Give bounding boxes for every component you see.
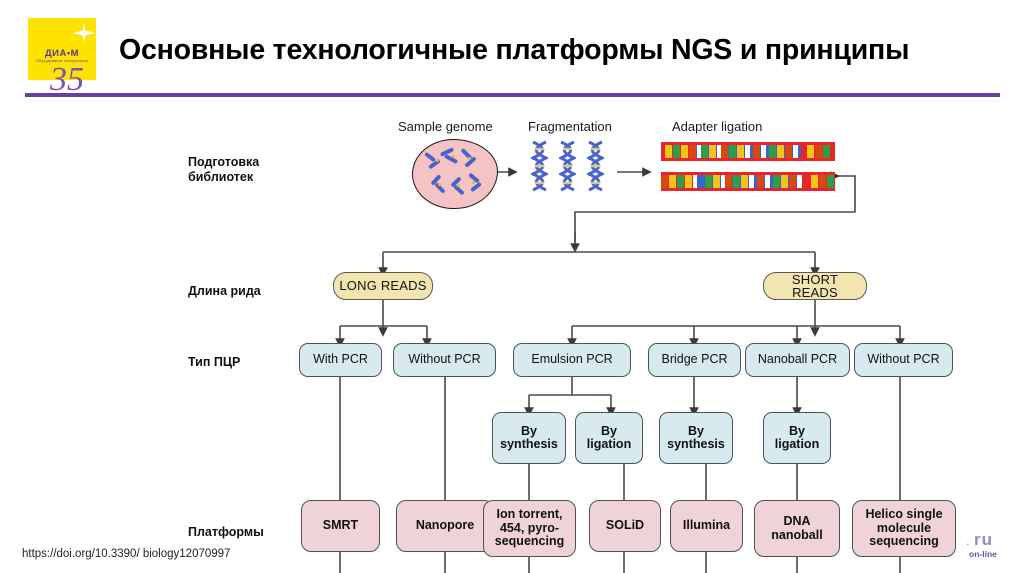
- node-nanoball-by-ligation[interactable]: By ligation: [763, 412, 831, 464]
- node-line2: molecule: [877, 522, 931, 536]
- row-label-line1: Длина рида: [188, 284, 261, 298]
- node-line1: Ion torrent,: [497, 508, 563, 522]
- node-platform-illumina[interactable]: Illumina: [670, 500, 743, 552]
- step-label-fragmentation: Fragmentation: [528, 119, 612, 134]
- row-label-line1: Тип ПЦР: [188, 355, 240, 369]
- doi-reference: https://doi.org/10.3390/ biology12070997: [22, 548, 230, 560]
- dna-helix-icon: [587, 140, 604, 198]
- node-line2: ligation: [775, 438, 819, 452]
- company-logo: ДИА•М Оборудование лаборатории 35: [28, 18, 104, 96]
- header-divider: [25, 93, 1000, 97]
- row-label-line2: библиотек: [188, 170, 253, 184]
- node-line1: SOLiD: [606, 519, 644, 533]
- row-label-read-length: Длина рида: [188, 284, 261, 299]
- node-line2: synthesis: [667, 438, 725, 452]
- row-label-library-prep: Подготовка библиотек: [188, 155, 259, 185]
- node-platform-solid[interactable]: SOLiD: [589, 500, 661, 552]
- row-label-line1: Подготовка: [188, 155, 259, 169]
- row-label-platforms: Платформы: [188, 525, 264, 540]
- node-platform-ion-torrent[interactable]: Ion torrent, 454, pyro- sequencing: [483, 500, 576, 557]
- ru-logo-dot: .: [966, 533, 970, 548]
- node-platform-smrt[interactable]: SMRT: [301, 500, 380, 552]
- page-title: Основные технологичные платформы NGS и п…: [119, 34, 1009, 67]
- node-emulsion-by-ligation[interactable]: By ligation: [575, 412, 643, 464]
- node-line1: Nanopore: [416, 519, 474, 533]
- node-line1: By: [601, 425, 617, 439]
- node-platform-nanopore[interactable]: Nanopore: [396, 500, 494, 552]
- step-label-adapter-ligation: Adapter ligation: [672, 119, 762, 134]
- node-line3: sequencing: [495, 535, 564, 549]
- dna-adapter-icon: [661, 142, 835, 192]
- node-line2: synthesis: [500, 438, 558, 452]
- node-long-reads[interactable]: LONG READS: [333, 272, 433, 300]
- row-label-line1: Платформы: [188, 525, 264, 539]
- node-without-pcr-long[interactable]: Without PCR: [393, 343, 496, 377]
- node-line1: SMRT: [323, 519, 358, 533]
- node-line2: 454, pyro-: [500, 522, 559, 536]
- node-nanoball-pcr[interactable]: Nanoball PCR: [745, 343, 850, 377]
- node-line1: By: [521, 425, 537, 439]
- node-emulsion-pcr[interactable]: Emulsion PCR: [513, 343, 631, 377]
- node-without-pcr-short[interactable]: Without PCR: [854, 343, 953, 377]
- ru-logo-ru: ru: [974, 530, 993, 550]
- logo-brand-text: ДИА•М: [33, 48, 91, 59]
- node-line1: DNA: [783, 515, 810, 529]
- node-line2: nanoball: [771, 529, 822, 543]
- dna-helix-icon: [559, 140, 576, 198]
- dna-helix-icon: [531, 140, 548, 198]
- slide-header: ДИА•М Оборудование лаборатории 35 Основн…: [0, 0, 1024, 100]
- node-platform-helicos[interactable]: Helico single molecule sequencing: [852, 500, 956, 557]
- star-icon: [73, 22, 95, 44]
- node-line1: By: [789, 425, 805, 439]
- node-line1: By: [688, 425, 704, 439]
- step-label-sample-genome: Sample genome: [398, 119, 493, 134]
- node-bridge-pcr[interactable]: Bridge PCR: [648, 343, 741, 377]
- node-platform-dna-nanoball[interactable]: DNA nanoball: [754, 500, 840, 557]
- node-with-pcr[interactable]: With PCR: [299, 343, 382, 377]
- row-label-pcr-type: Тип ПЦР: [188, 355, 240, 370]
- ru-online-logo: . ru on-line: [966, 530, 1018, 566]
- ngs-workflow-diagram: Подготовка библиотек Длина рида Тип ПЦР …: [0, 100, 1024, 573]
- node-line1: Illumina: [683, 519, 730, 533]
- node-line3: sequencing: [869, 535, 938, 549]
- node-line1: Helico single: [865, 508, 942, 522]
- node-line2: ligation: [587, 438, 631, 452]
- node-emulsion-by-synthesis[interactable]: By synthesis: [492, 412, 566, 464]
- node-bridge-by-synthesis[interactable]: By synthesis: [659, 412, 733, 464]
- ru-logo-online: on-line: [969, 549, 997, 559]
- node-short-reads[interactable]: SHORT READS: [763, 272, 867, 300]
